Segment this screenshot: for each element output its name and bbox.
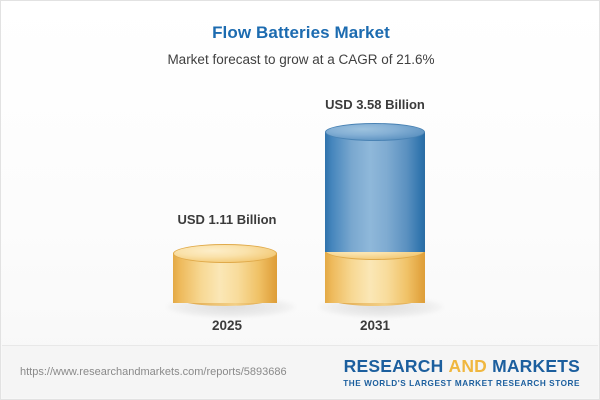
logo-wordmark: RESEARCH AND MARKETS bbox=[343, 356, 580, 377]
bar-segment-growth-2031 bbox=[325, 132, 425, 252]
bar-cylinder-2025[interactable] bbox=[173, 244, 277, 312]
chart-page: Flow Batteries Market Market forecast to… bbox=[0, 0, 600, 400]
logo-word-research: RESEARCH bbox=[344, 356, 444, 376]
source-url[interactable]: https://www.researchandmarkets.com/repor… bbox=[20, 366, 287, 378]
cylinder-growth-top-cap-2031 bbox=[325, 123, 425, 141]
plot-area: USD 1.11 Billion 2025 USD 3.58 Billion bbox=[1, 1, 600, 346]
footer-bar: https://www.researchandmarkets.com/repor… bbox=[2, 345, 598, 398]
value-label-2031: USD 3.58 Billion bbox=[275, 97, 475, 112]
cylinder-growth-body-2031 bbox=[325, 132, 425, 252]
bar-cylinder-2031[interactable] bbox=[325, 123, 425, 312]
logo-word-and: AND bbox=[448, 356, 487, 376]
bar-segment-base-2031 bbox=[325, 251, 425, 303]
bar-segment-base-2025 bbox=[173, 253, 277, 303]
value-label-2025: USD 1.11 Billion bbox=[127, 212, 327, 227]
logo-word-markets: MARKETS bbox=[492, 356, 580, 376]
category-label-2031: 2031 bbox=[275, 318, 475, 333]
logo[interactable]: RESEARCH AND MARKETS THE WORLD'S LARGEST… bbox=[343, 356, 580, 388]
logo-tagline: THE WORLD'S LARGEST MARKET RESEARCH STOR… bbox=[343, 379, 580, 388]
cylinder-top-cap-2025 bbox=[173, 244, 277, 263]
